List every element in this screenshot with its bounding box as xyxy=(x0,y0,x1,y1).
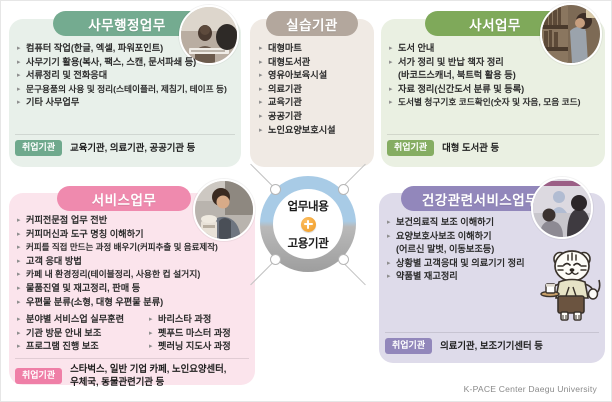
plus-icon xyxy=(301,217,316,232)
list-item: 사무기기 활용(복사, 팩스, 스캔, 문서파쇄 등) xyxy=(17,56,233,70)
center-hub-bottom-label: 고용기관 xyxy=(287,235,328,251)
list-item: 상황별 고객응대 및 의료기기 정리 xyxy=(387,257,537,271)
org-badge: 취업기관 xyxy=(385,338,432,354)
panel-service-divider xyxy=(15,358,249,359)
infographic-page: 사무행정업무 컴퓨터 작업(한글, 엑셀, 파워포인트) 사무기기 활용(복사,… xyxy=(0,0,612,402)
list-item: 보건의료직 보조 이해하기 xyxy=(387,216,537,230)
panel-service-org-row: 취업기관 스타벅스, 일반 기업 카페, 노인요양센터, 우체국, 동물관련기관… xyxy=(15,363,226,388)
list-item: 노인요양보호시설 xyxy=(259,124,371,138)
tiger-mascot-image xyxy=(537,244,603,324)
org-text: 의료기관, 보조기기센터 등 xyxy=(440,340,543,353)
list-item: 바리스타 과정 xyxy=(149,313,249,327)
panel-librarian-divider xyxy=(387,134,599,135)
connector-node-bottom-right xyxy=(338,254,349,265)
panel-service-column-right: 바리스타 과정 펫푸드 마스터 과정 펫러닝 지도사 과정 xyxy=(149,313,249,354)
list-item: 기타 사무업무 xyxy=(17,96,233,110)
list-item: 펫러닝 지도사 과정 xyxy=(149,340,249,354)
list-item: 문구용품의 사용 및 정리(스테이플러, 제침기, 테이프 등) xyxy=(17,83,233,97)
connector-node-top-left xyxy=(270,184,281,195)
list-item: 커피머신과 도구 명칭 이해하기 xyxy=(17,228,249,242)
panel-librarian-org-row: 취업기관 대형 도서관 등 xyxy=(387,140,499,156)
footer-credit: K-PACE Center Daegu University xyxy=(464,384,597,394)
list-item: 우편물 분류(소형, 대형 우편물 분류) xyxy=(17,296,249,310)
list-item: 약품별 재고정리 xyxy=(387,270,537,284)
health-service-photo xyxy=(531,177,593,239)
list-item: 카페 내 환경정리(테이블정리, 사용한 컵 설거지) xyxy=(17,268,249,282)
list-item: 의료기관 xyxy=(259,83,371,97)
list-item: 기관 방문 안내 보조 xyxy=(17,327,135,341)
list-item: 서류정리 및 전화응대 xyxy=(17,69,233,83)
list-item: 대형마트 xyxy=(259,42,371,56)
list-item: 공공기관 xyxy=(259,110,371,124)
panel-health-service-title: 건강관련서비스업무 xyxy=(422,189,538,209)
panel-librarian-title: 사서업무 xyxy=(469,14,521,34)
list-item: 교육기관 xyxy=(259,96,371,110)
list-item: 커피를 직접 만드는 과정 배우기(커피추출 및 음료제작) xyxy=(17,241,249,255)
list-item: 영유아보육시설 xyxy=(259,69,371,83)
org-badge: 취업기관 xyxy=(15,140,62,156)
panel-service-header: 서비스업무 xyxy=(57,186,191,211)
panel-office-admin-divider xyxy=(15,134,235,135)
panel-office-admin-org-row: 취업기관 교육기관, 의료기관, 공공기관 등 xyxy=(15,140,195,156)
list-item: 커피전문점 업무 전반 xyxy=(17,214,249,228)
panel-office-admin-title: 사무행정업무 xyxy=(88,14,166,34)
org-text: 교육기관, 의료기관, 공공기관 등 xyxy=(70,142,195,155)
panel-practice-institutions-list: 대형마트 대형도서관 영유아보육시설 의료기관 교육기관 공공기관 노인요양보호… xyxy=(259,42,371,137)
panel-health-service-org-row: 취업기관 의료기관, 보조기기센터 등 xyxy=(385,338,543,354)
list-item: 분야별 서비스업 실무훈련 xyxy=(17,313,135,327)
list-item: 펫푸드 마스터 과정 xyxy=(149,327,249,341)
list-item: (어르신 말벗, 이동보조등) xyxy=(387,243,537,257)
tiger-mascot xyxy=(537,244,603,324)
list-item: 물품진열 및 재고정리, 판매 등 xyxy=(17,282,249,296)
panel-service-list: 커피전문점 업무 전반 커피머신과 도구 명칭 이해하기 커피를 직접 만드는 … xyxy=(17,214,249,309)
list-item: 서가 정리 및 반납 책자 정리 xyxy=(389,56,599,70)
panel-health-service-divider xyxy=(385,332,599,333)
list-item: 자료 정리(신간도서 분류 및 등록) xyxy=(389,83,599,97)
panel-service-column-left: 분야별 서비스업 실무훈련 기관 방문 안내 보조 프로그램 진행 보조 xyxy=(17,313,135,354)
org-badge: 취업기관 xyxy=(387,140,434,156)
list-item: 도서별 청구기호 코드확인(숫자 및 자음, 모음 코드) xyxy=(389,96,599,110)
list-item: (바코드스캐너, 북트럭 활용 등) xyxy=(389,69,599,83)
connector-node-top-right xyxy=(338,184,349,195)
list-item: 컴퓨터 작업(한글, 엑셀, 파워포인트) xyxy=(17,42,233,56)
list-item: 대형도서관 xyxy=(259,56,371,70)
org-text: 스타벅스, 일반 기업 카페, 노인요양센터, 우체국, 동물관련기관 등 xyxy=(70,363,226,388)
panel-librarian-list: 도서 안내 서가 정리 및 반납 책자 정리 (바코드스캐너, 북트럭 활용 등… xyxy=(389,42,599,110)
org-text: 대형 도서관 등 xyxy=(442,142,499,155)
list-item: 고객 응대 방법 xyxy=(17,255,249,269)
list-item: 요양보호사보조 이해하기 xyxy=(387,230,537,244)
panel-service-course-columns: 분야별 서비스업 실무훈련 기관 방문 안내 보조 프로그램 진행 보조 바리스… xyxy=(17,313,249,354)
panel-service-title: 서비스업무 xyxy=(92,189,157,209)
panel-health-service-list: 보건의료직 보조 이해하기 요양보호사보조 이해하기 (어르신 말벗, 이동보조… xyxy=(387,216,537,284)
center-hub-top-label: 업무내용 xyxy=(287,198,328,214)
org-badge: 취업기관 xyxy=(15,368,62,384)
list-item: 도서 안내 xyxy=(389,42,599,56)
list-item: 프로그램 진행 보조 xyxy=(17,340,135,354)
health-service-photo-image xyxy=(533,179,591,237)
panel-office-admin-list: 컴퓨터 작업(한글, 엑셀, 파워포인트) 사무기기 활용(복사, 팩스, 스캔… xyxy=(17,42,233,110)
panel-practice-institutions-title: 실습기관 xyxy=(286,14,338,34)
connector-node-bottom-left xyxy=(270,254,281,265)
panel-practice-institutions-header: 실습기관 xyxy=(266,11,358,36)
